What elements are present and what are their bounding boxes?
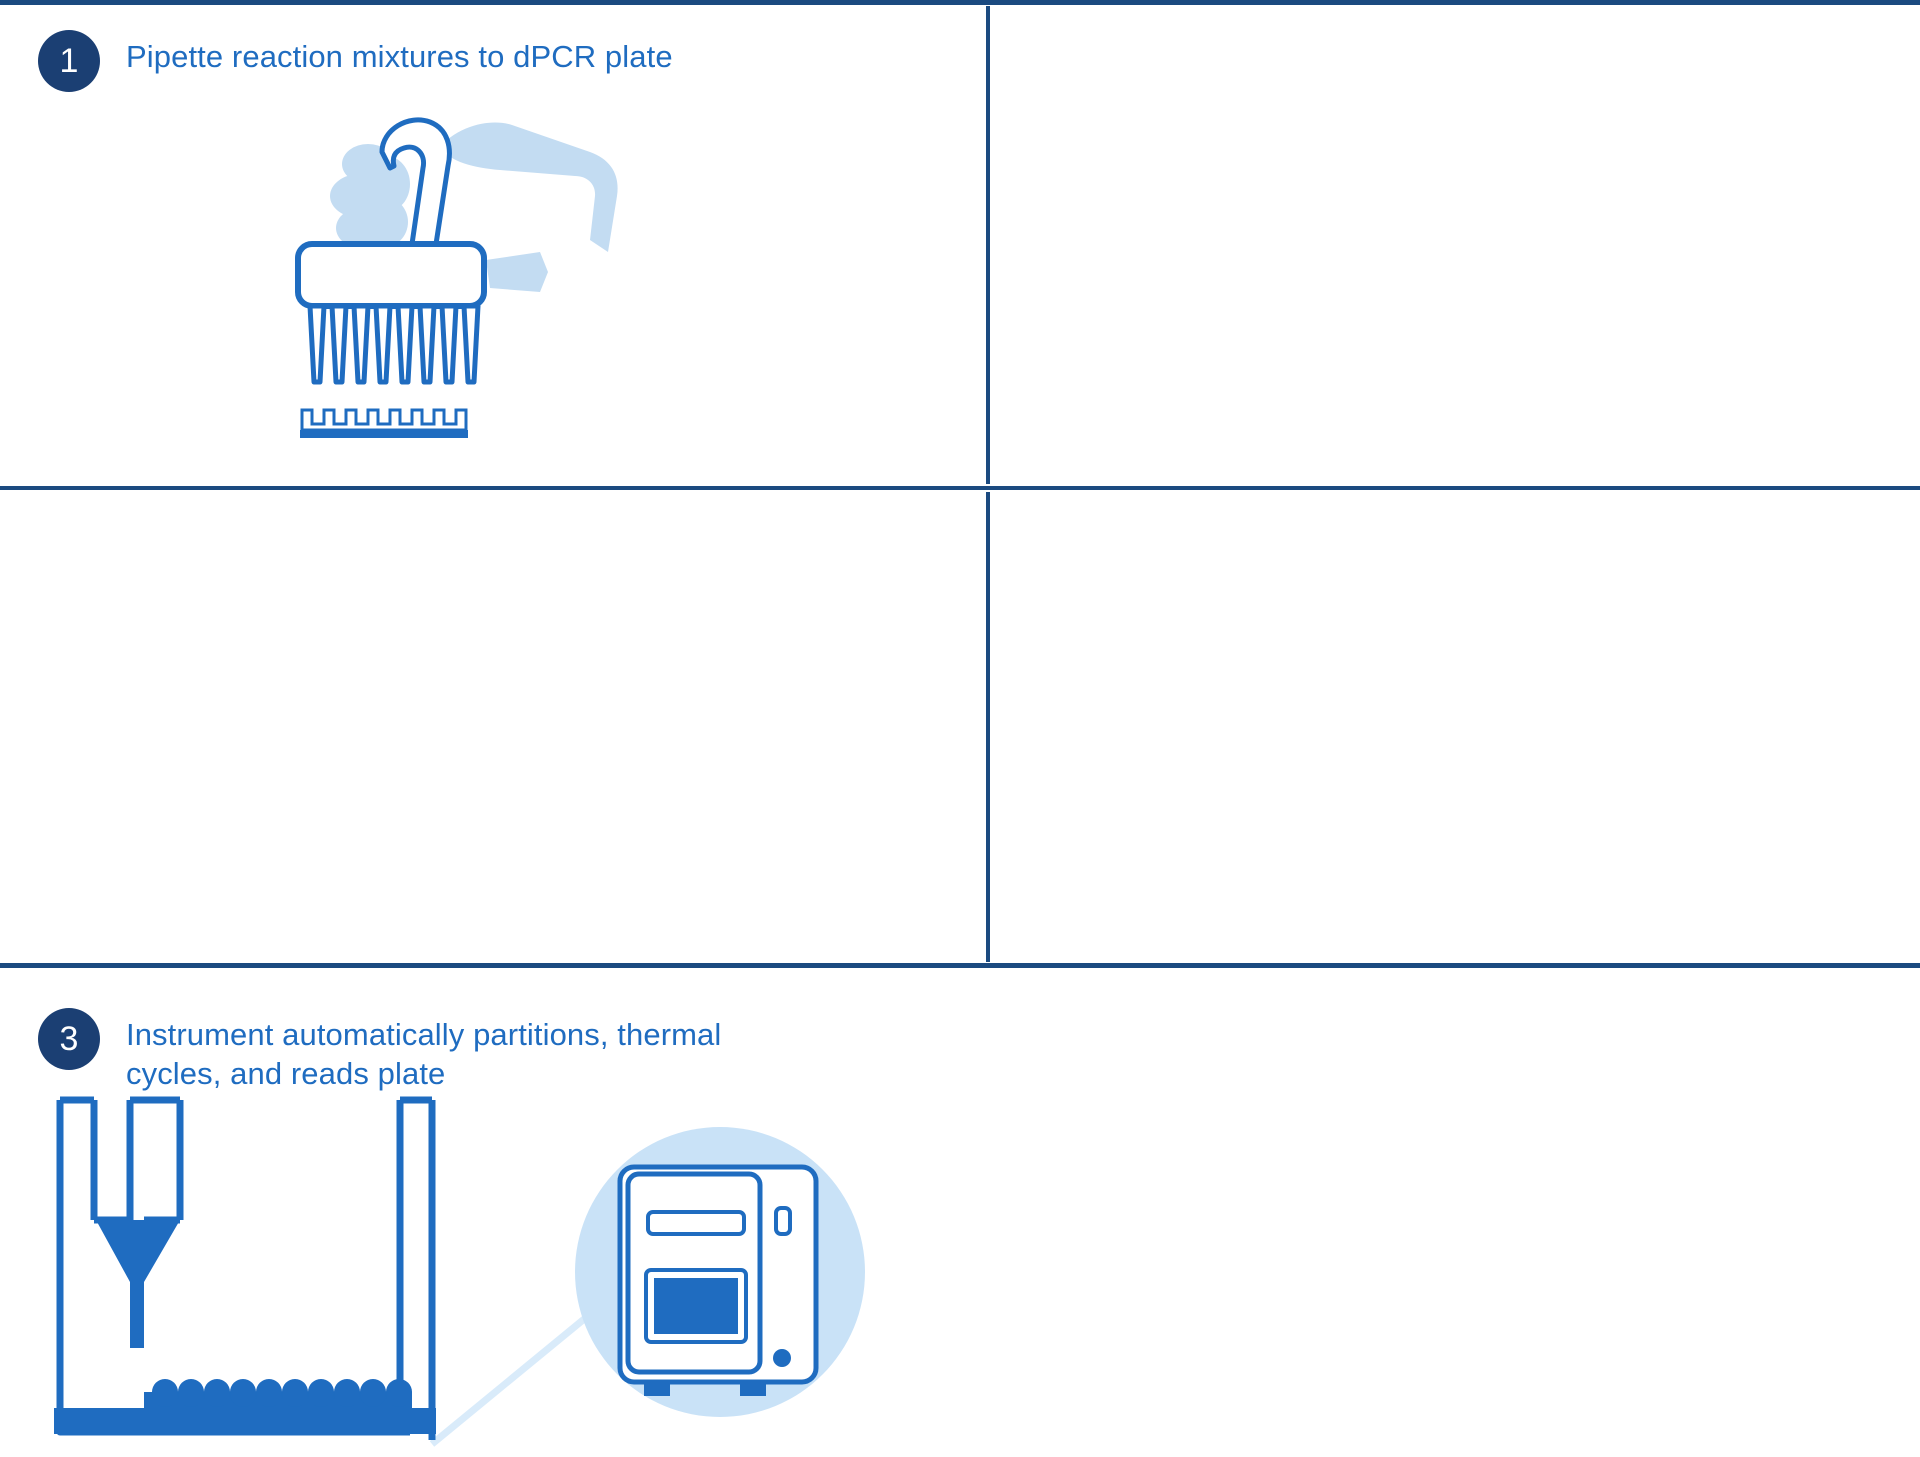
step-label-1: Pipette reaction mixtures to dPCR plate bbox=[126, 30, 673, 76]
divider-top bbox=[0, 0, 1920, 5]
step-cell-4: 4 Analyze results bbox=[990, 492, 1920, 962]
step-label-3: Instrument automatically partitions, the… bbox=[126, 1008, 746, 1093]
plate-cross-section-icon bbox=[40, 1092, 940, 1452]
illustration-pipette bbox=[290, 92, 710, 392]
dpcr-plate-strip-1 bbox=[300, 404, 500, 444]
illustration-partitioning bbox=[40, 1092, 940, 1452]
step-badge-3: 3 bbox=[38, 1008, 100, 1070]
step-badge-1: 1 bbox=[38, 30, 100, 92]
step-header-1: 1 Pipette reaction mixtures to dPCR plat… bbox=[38, 30, 918, 92]
dpcr-instrument-icon bbox=[620, 1167, 816, 1396]
divider-middle bbox=[0, 486, 1920, 490]
divider-bottom bbox=[0, 963, 1920, 968]
step-header-3: 3 Instrument automatically partitions, t… bbox=[38, 1008, 918, 1093]
workflow-diagram: 1 Pipette reaction mixtures to dPCR plat… bbox=[0, 0, 1920, 988]
step-cell-1: 1 Pipette reaction mixtures to dPCR plat… bbox=[0, 6, 986, 484]
dpcr-plate-icon bbox=[300, 404, 500, 444]
step-cell-3: 3 Instrument automatically partitions, t… bbox=[0, 492, 986, 962]
step-cell-2: 2 Apply rubber plate seal to dPCR plate … bbox=[990, 6, 1920, 484]
multichannel-pipette-icon bbox=[290, 92, 710, 392]
